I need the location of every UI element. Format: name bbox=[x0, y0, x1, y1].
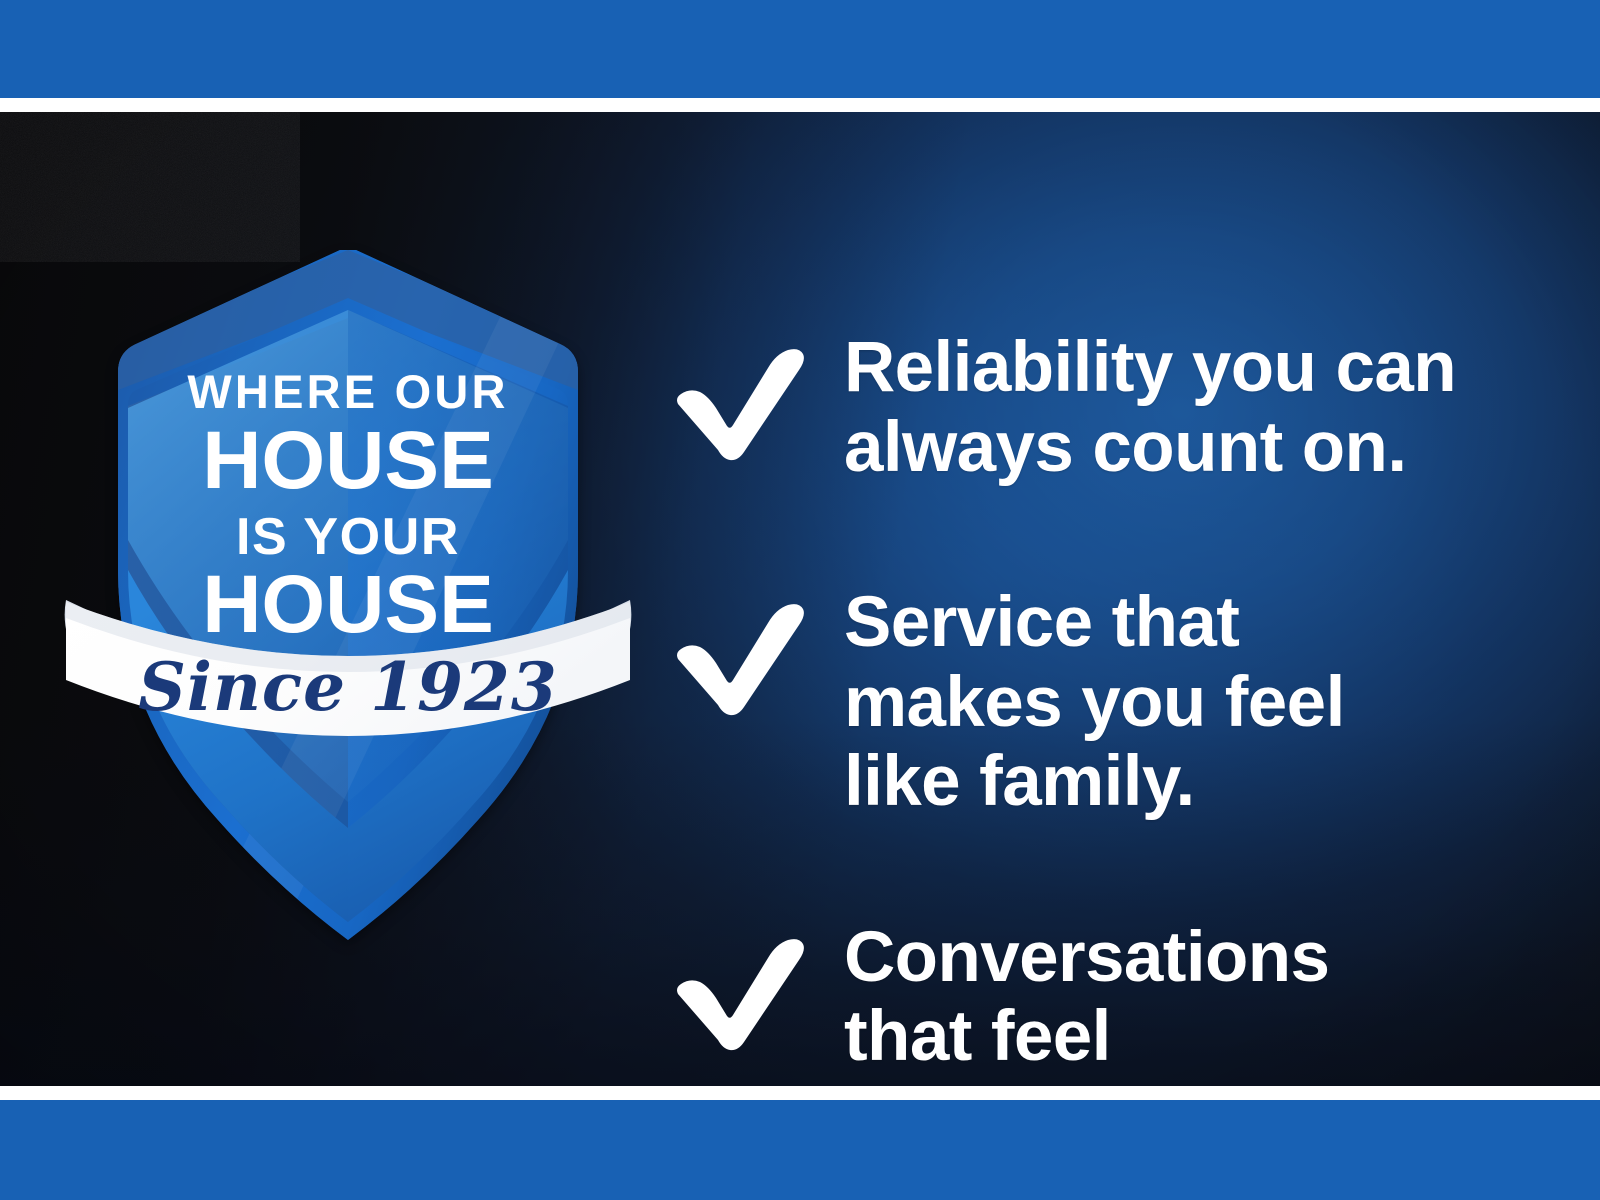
promo-graphic: WHERE OUR HOUSE IS YOUR HOUSE Since 1923 bbox=[0, 0, 1600, 1200]
top-brand-bar bbox=[0, 0, 1600, 98]
shield-line-house-1: HOUSE bbox=[202, 415, 494, 506]
shield-line-where-our: WHERE OUR bbox=[187, 365, 508, 418]
bottom-brand-bar bbox=[0, 1100, 1600, 1200]
benefit-item-service: Service that makes you feel like family. bbox=[672, 583, 1532, 822]
benefit-text: Reliability you can always count on. bbox=[844, 328, 1532, 487]
benefits-list: Reliability you can always count on. Ser… bbox=[672, 292, 1532, 1086]
checkmark-icon bbox=[672, 601, 808, 717]
brand-logo: WHERE OUR HOUSE IS YOUR HOUSE Since 1923 bbox=[48, 240, 648, 940]
shield-line-house-2: HOUSE bbox=[202, 559, 494, 650]
ribbon-since-text: Since 1923 bbox=[138, 648, 558, 726]
benefit-text: Conversations that feel like home. bbox=[844, 918, 1532, 1086]
main-stage: WHERE OUR HOUSE IS YOUR HOUSE Since 1923 bbox=[0, 112, 1600, 1086]
shield-line-is-your: IS YOUR bbox=[236, 508, 460, 566]
benefit-item-conversations: Conversations that feel like home. bbox=[672, 918, 1532, 1086]
bottom-white-divider bbox=[0, 1086, 1600, 1100]
checkmark-icon bbox=[672, 936, 808, 1052]
benefit-text: Service that makes you feel like family. bbox=[844, 583, 1532, 822]
benefit-item-reliability: Reliability you can always count on. bbox=[672, 328, 1532, 487]
checkmark-icon bbox=[672, 346, 808, 462]
top-white-divider bbox=[0, 98, 1600, 112]
